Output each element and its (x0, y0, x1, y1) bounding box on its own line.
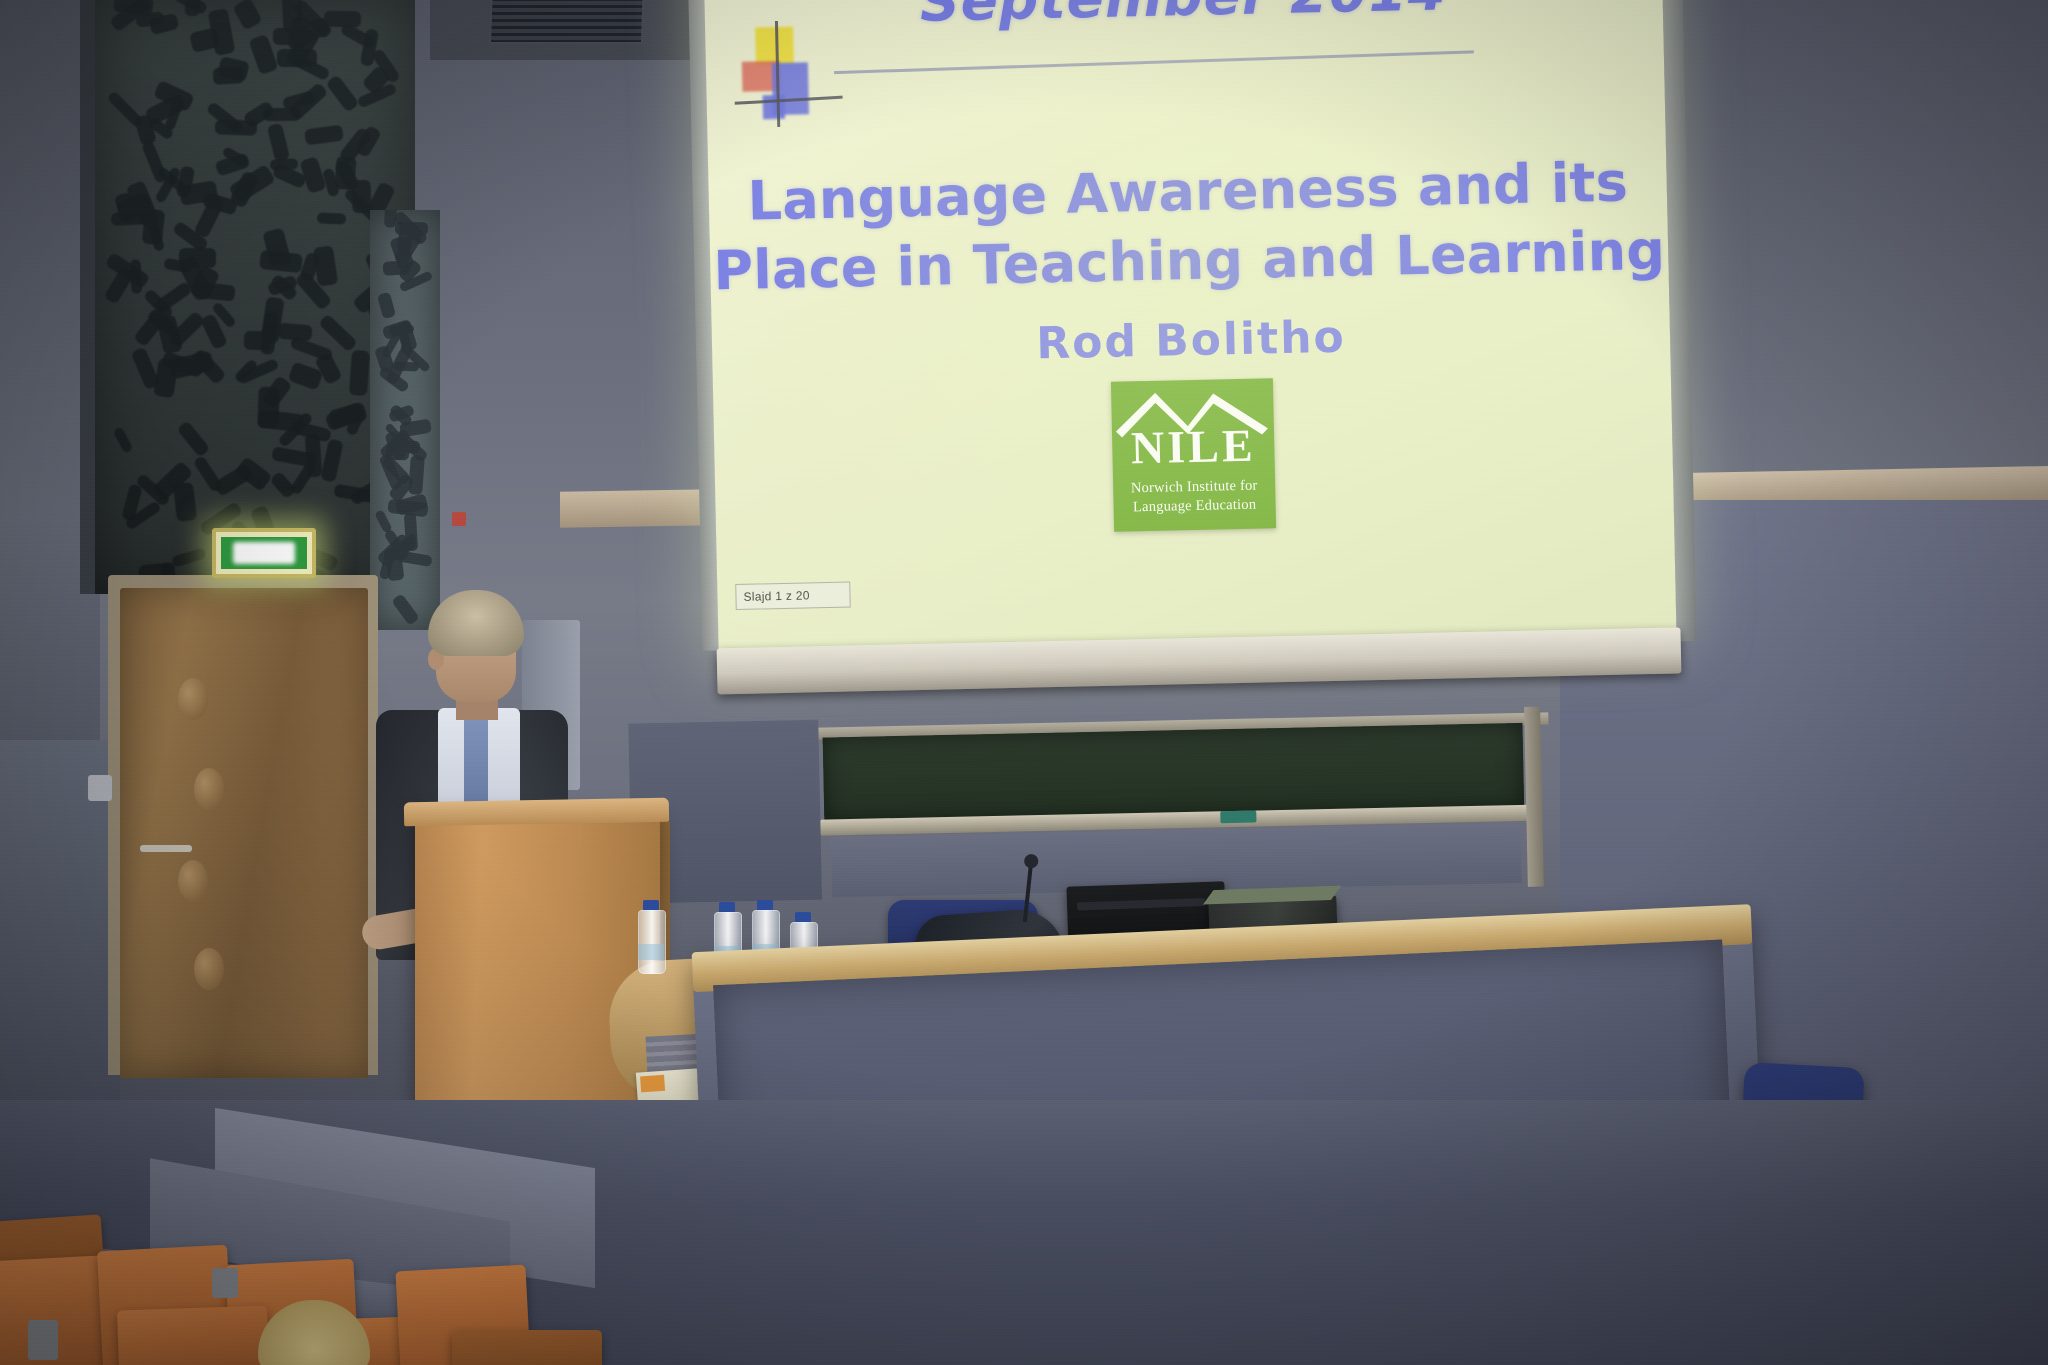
presenter-hair (428, 590, 524, 656)
lecture-seat[interactable] (117, 1305, 269, 1365)
nile-subtitle: Norwich Institute for Language Education (1113, 476, 1276, 518)
slide-counter-status: Slajd 1 z 20 (735, 582, 851, 611)
slide-header-underline (834, 50, 1474, 74)
decorative-wall-panel (95, 0, 415, 594)
nile-subtitle-line-2: Language Education (1113, 495, 1275, 518)
chalkboard (818, 712, 1551, 887)
lecture-seat[interactable] (452, 1330, 602, 1365)
nile-acronym: NILE (1112, 422, 1275, 472)
lectern-top (404, 798, 669, 827)
emergency-exit-sign-icon (212, 528, 316, 578)
decorative-wall-panel-narrow (370, 210, 440, 630)
water-bottle (638, 900, 664, 972)
seat-hinge (212, 1268, 238, 1298)
chalk-eraser (1220, 811, 1256, 824)
chalkboard-post (1524, 707, 1544, 887)
slide-author: Rod Bolitho (712, 305, 1671, 377)
slide-header-line-2: September 2014 (704, 0, 1663, 38)
wooden-door[interactable] (120, 588, 368, 1078)
slide-title: Language Awareness and its Place in Teac… (708, 148, 1669, 306)
wall-socket (88, 775, 112, 801)
slide-header: PTN Conference, Gdansk September 2014 (703, 0, 1663, 38)
wall-marker-red (452, 512, 466, 526)
door-handle[interactable] (140, 845, 192, 852)
seat-hinge (28, 1320, 58, 1360)
slide-content: PTN Conference, Gdansk September 2014 La… (703, 0, 1676, 650)
projection-screen: PTN Conference, Gdansk September 2014 La… (704, 0, 1680, 720)
lecture-hall-photo: PTN Conference, Gdansk September 2014 La… (0, 0, 2048, 1365)
ceiling-vent (489, 0, 645, 44)
projected-slide: PTN Conference, Gdansk September 2014 La… (703, 0, 1676, 650)
nile-logo: NILE Norwich Institute for Language Educ… (1111, 378, 1276, 531)
